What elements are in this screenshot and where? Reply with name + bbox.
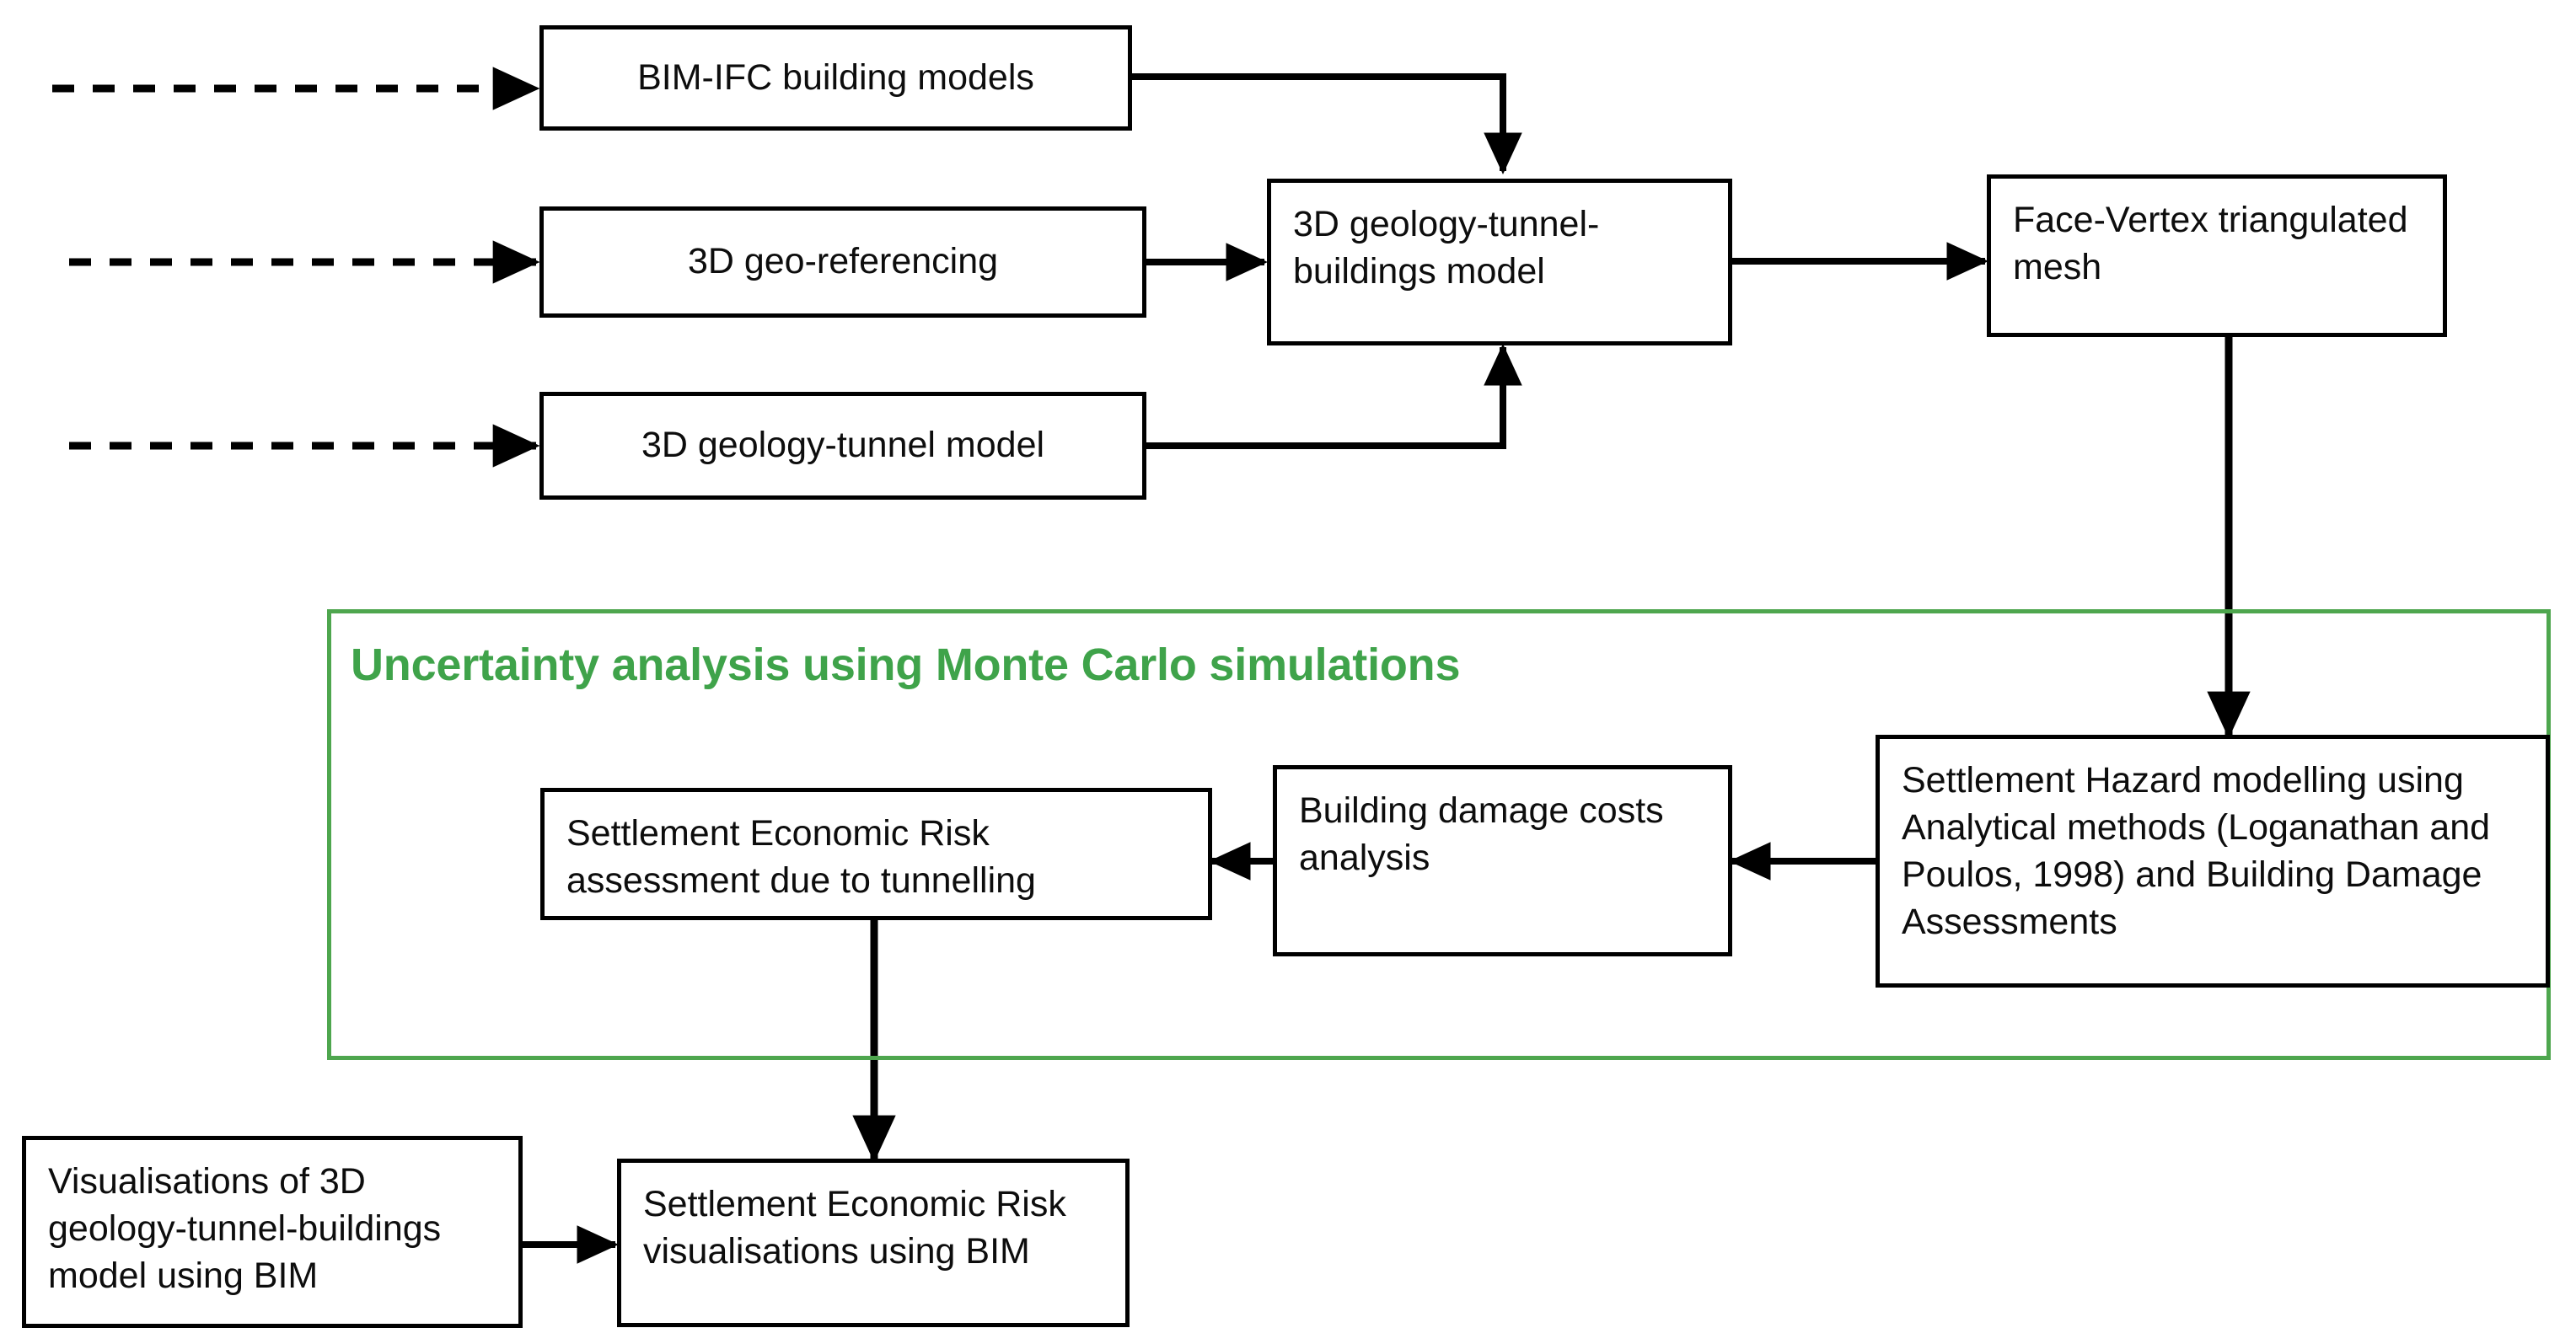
node-label: Settlement Economic Risk assessment due … bbox=[566, 811, 1186, 905]
node-face-vertex-triangulated-mesh[interactable]: Face-Vertex triangulated mesh bbox=[1987, 174, 2447, 337]
node-label: BIM-IFC building models bbox=[561, 55, 1111, 102]
node-building-damage-costs-analysis[interactable]: Building damage costs analysis bbox=[1273, 765, 1732, 956]
node-3d-geology-tunnel-model[interactable]: 3D geology-tunnel model bbox=[539, 392, 1146, 500]
monte-carlo-group-title: Uncertainty analysis using Monte Carlo s… bbox=[351, 640, 1460, 690]
flowchart-canvas: Uncertainty analysis using Monte Carlo s… bbox=[0, 0, 2576, 1344]
node-label: Visualisations of 3D geology-tunnel-buil… bbox=[48, 1159, 496, 1300]
edge-bim-ifc-to-combined-model bbox=[1132, 77, 1503, 171]
node-visualisations-bim[interactable]: Visualisations of 3D geology-tunnel-buil… bbox=[22, 1136, 523, 1328]
edge-geo-tunnel-to-combined-model bbox=[1146, 347, 1503, 446]
node-3d-geology-tunnel-buildings-model[interactable]: 3D geology-tunnel-buildings model bbox=[1267, 179, 1732, 345]
node-label: Face-Vertex triangulated mesh bbox=[2013, 197, 2421, 292]
node-label: 3D geology-tunnel model bbox=[561, 422, 1125, 469]
node-label: Settlement Economic Risk visualisations … bbox=[643, 1181, 1103, 1276]
node-3d-geo-referencing[interactable]: 3D geo-referencing bbox=[539, 206, 1146, 318]
node-label: Building damage costs analysis bbox=[1299, 788, 1706, 882]
node-label: 3D geo-referencing bbox=[561, 238, 1125, 286]
node-settlement-economic-risk-assessment[interactable]: Settlement Economic Risk assessment due … bbox=[540, 788, 1212, 920]
node-settlement-hazard-modelling[interactable]: Settlement Hazard modelling using Analyt… bbox=[1876, 735, 2550, 988]
node-label: Settlement Hazard modelling using Analyt… bbox=[1902, 758, 2524, 946]
node-bim-ifc-building-models[interactable]: BIM-IFC building models bbox=[539, 25, 1132, 131]
node-label: 3D geology-tunnel-buildings model bbox=[1293, 201, 1706, 296]
node-settlement-economic-risk-visualisations[interactable]: Settlement Economic Risk visualisations … bbox=[617, 1159, 1130, 1327]
